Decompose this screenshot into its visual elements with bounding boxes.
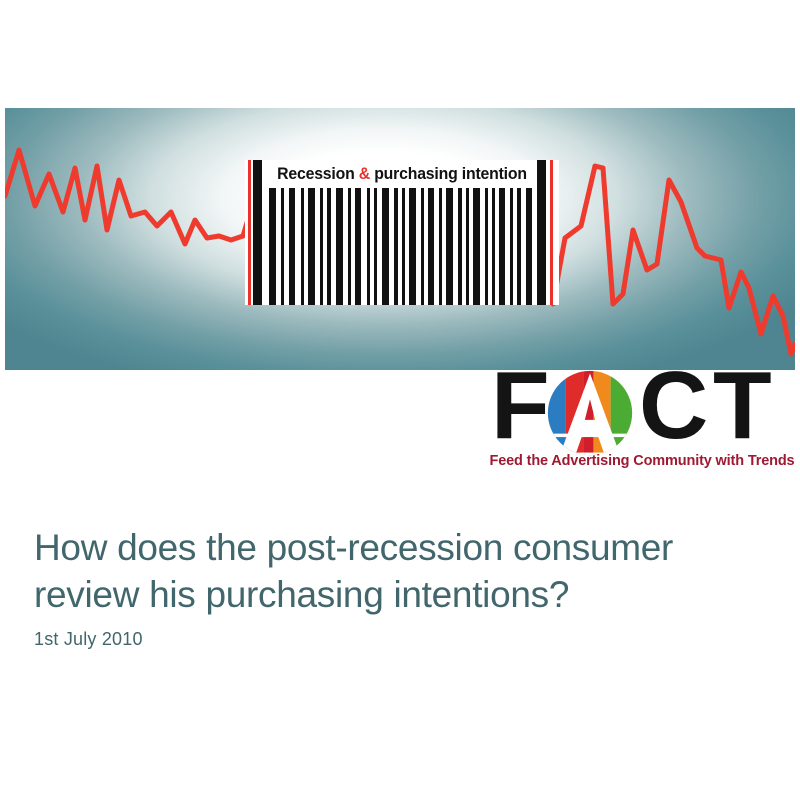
- fact-logo: F C T Feed the Advertising C: [489, 368, 795, 480]
- fact-wordmark: F C T: [489, 368, 795, 454]
- logo-letter-c: C: [639, 363, 707, 449]
- logo-letter-f: F: [491, 363, 549, 449]
- barcode-title: Recession & purchasing intention: [256, 160, 548, 188]
- trend-line-left: [5, 150, 249, 244]
- barcode-title-part2: purchasing intention: [370, 164, 527, 183]
- slide-date: 1st July 2010: [34, 629, 143, 650]
- logo-letter-t: T: [713, 363, 771, 449]
- barcode-graphic: Recession & purchasing intention: [245, 160, 559, 305]
- trend-line-right: [553, 166, 795, 354]
- page-title-line-2: review his purchasing intentions?: [34, 571, 774, 618]
- logo-letter-a-icon: [547, 370, 633, 456]
- barcode-title-part1: Recession: [277, 164, 359, 183]
- page-title-line-1: How does the post-recession consumer: [34, 524, 774, 571]
- logo-tagline: Feed the Advertising Community with Tren…: [489, 453, 795, 469]
- page-title: How does the post-recession consumer rev…: [34, 524, 774, 618]
- barcode-title-ampersand: &: [359, 164, 370, 183]
- recession-banner-image: Recession & purchasing intention: [5, 108, 795, 370]
